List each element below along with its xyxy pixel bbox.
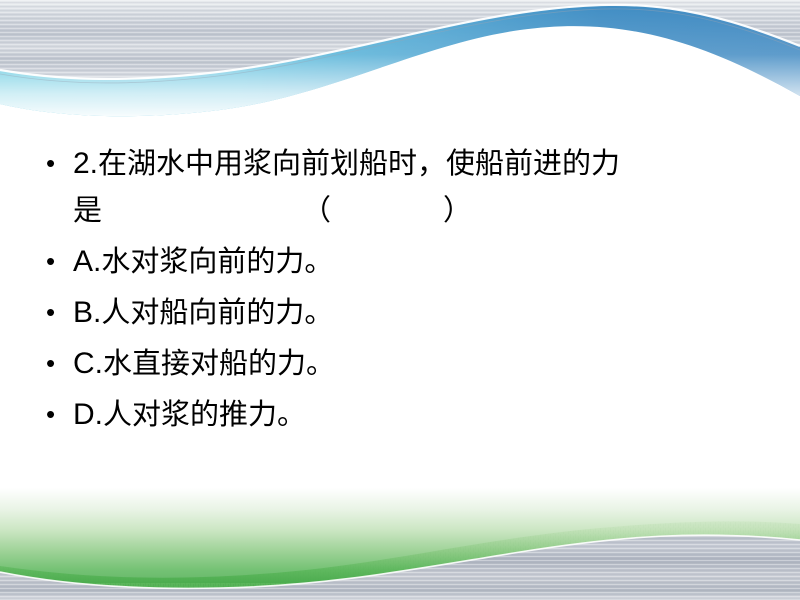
question-stem-text-cont: 是 (73, 193, 102, 227)
question-list: 2.在湖水中用浆向前划船时，使船前进的力 是（） A.水对浆向前的力。 B.人对… (0, 140, 800, 438)
bottom-grass-shape (0, 470, 800, 600)
option-d-label: D. (73, 398, 103, 431)
answer-blank-close: ） (443, 187, 472, 233)
option-c[interactable]: C.水直接对船的力。 (0, 340, 800, 387)
option-c-label: C. (73, 347, 103, 380)
option-b-label: B. (73, 296, 101, 329)
option-a[interactable]: A.水对浆向前的力。 (0, 238, 800, 285)
option-c-text: 水直接对船的力。 (103, 346, 335, 380)
question-stem: 2.在湖水中用浆向前划船时，使船前进的力 是（） (0, 140, 800, 234)
slide-canvas: 2.在湖水中用浆向前划船时，使船前进的力 是（） A.水对浆向前的力。 B.人对… (0, 0, 800, 600)
top-wave-shadow-edge (0, 9, 800, 83)
option-a-label: A. (73, 245, 101, 278)
option-d-text: 人对浆的推力。 (103, 397, 306, 431)
option-a-text: 水对浆向前的力。 (101, 244, 333, 278)
bottom-grass-haze (0, 488, 800, 583)
bottom-silver-wave-shape (0, 520, 800, 600)
option-b[interactable]: B.人对船向前的力。 (0, 289, 800, 336)
bottom-wave-highlight-edge (0, 535, 800, 588)
answer-blank-open: （ (302, 187, 331, 233)
top-wave-highlight-edge (0, 5, 800, 79)
slide-body: 2.在湖水中用浆向前划船时，使船前进的力 是（） A.水对浆向前的力。 B.人对… (0, 140, 800, 442)
option-b-text: 人对船向前的力。 (101, 295, 333, 329)
question-number: 2. (73, 147, 98, 180)
question-stem-text: 在湖水中用浆向前划船时，使船前进的力 (98, 146, 620, 180)
top-wave-blue-shape (0, 0, 800, 130)
top-silver-band-shape (0, 0, 800, 90)
option-d[interactable]: D.人对浆的推力。 (0, 391, 800, 438)
